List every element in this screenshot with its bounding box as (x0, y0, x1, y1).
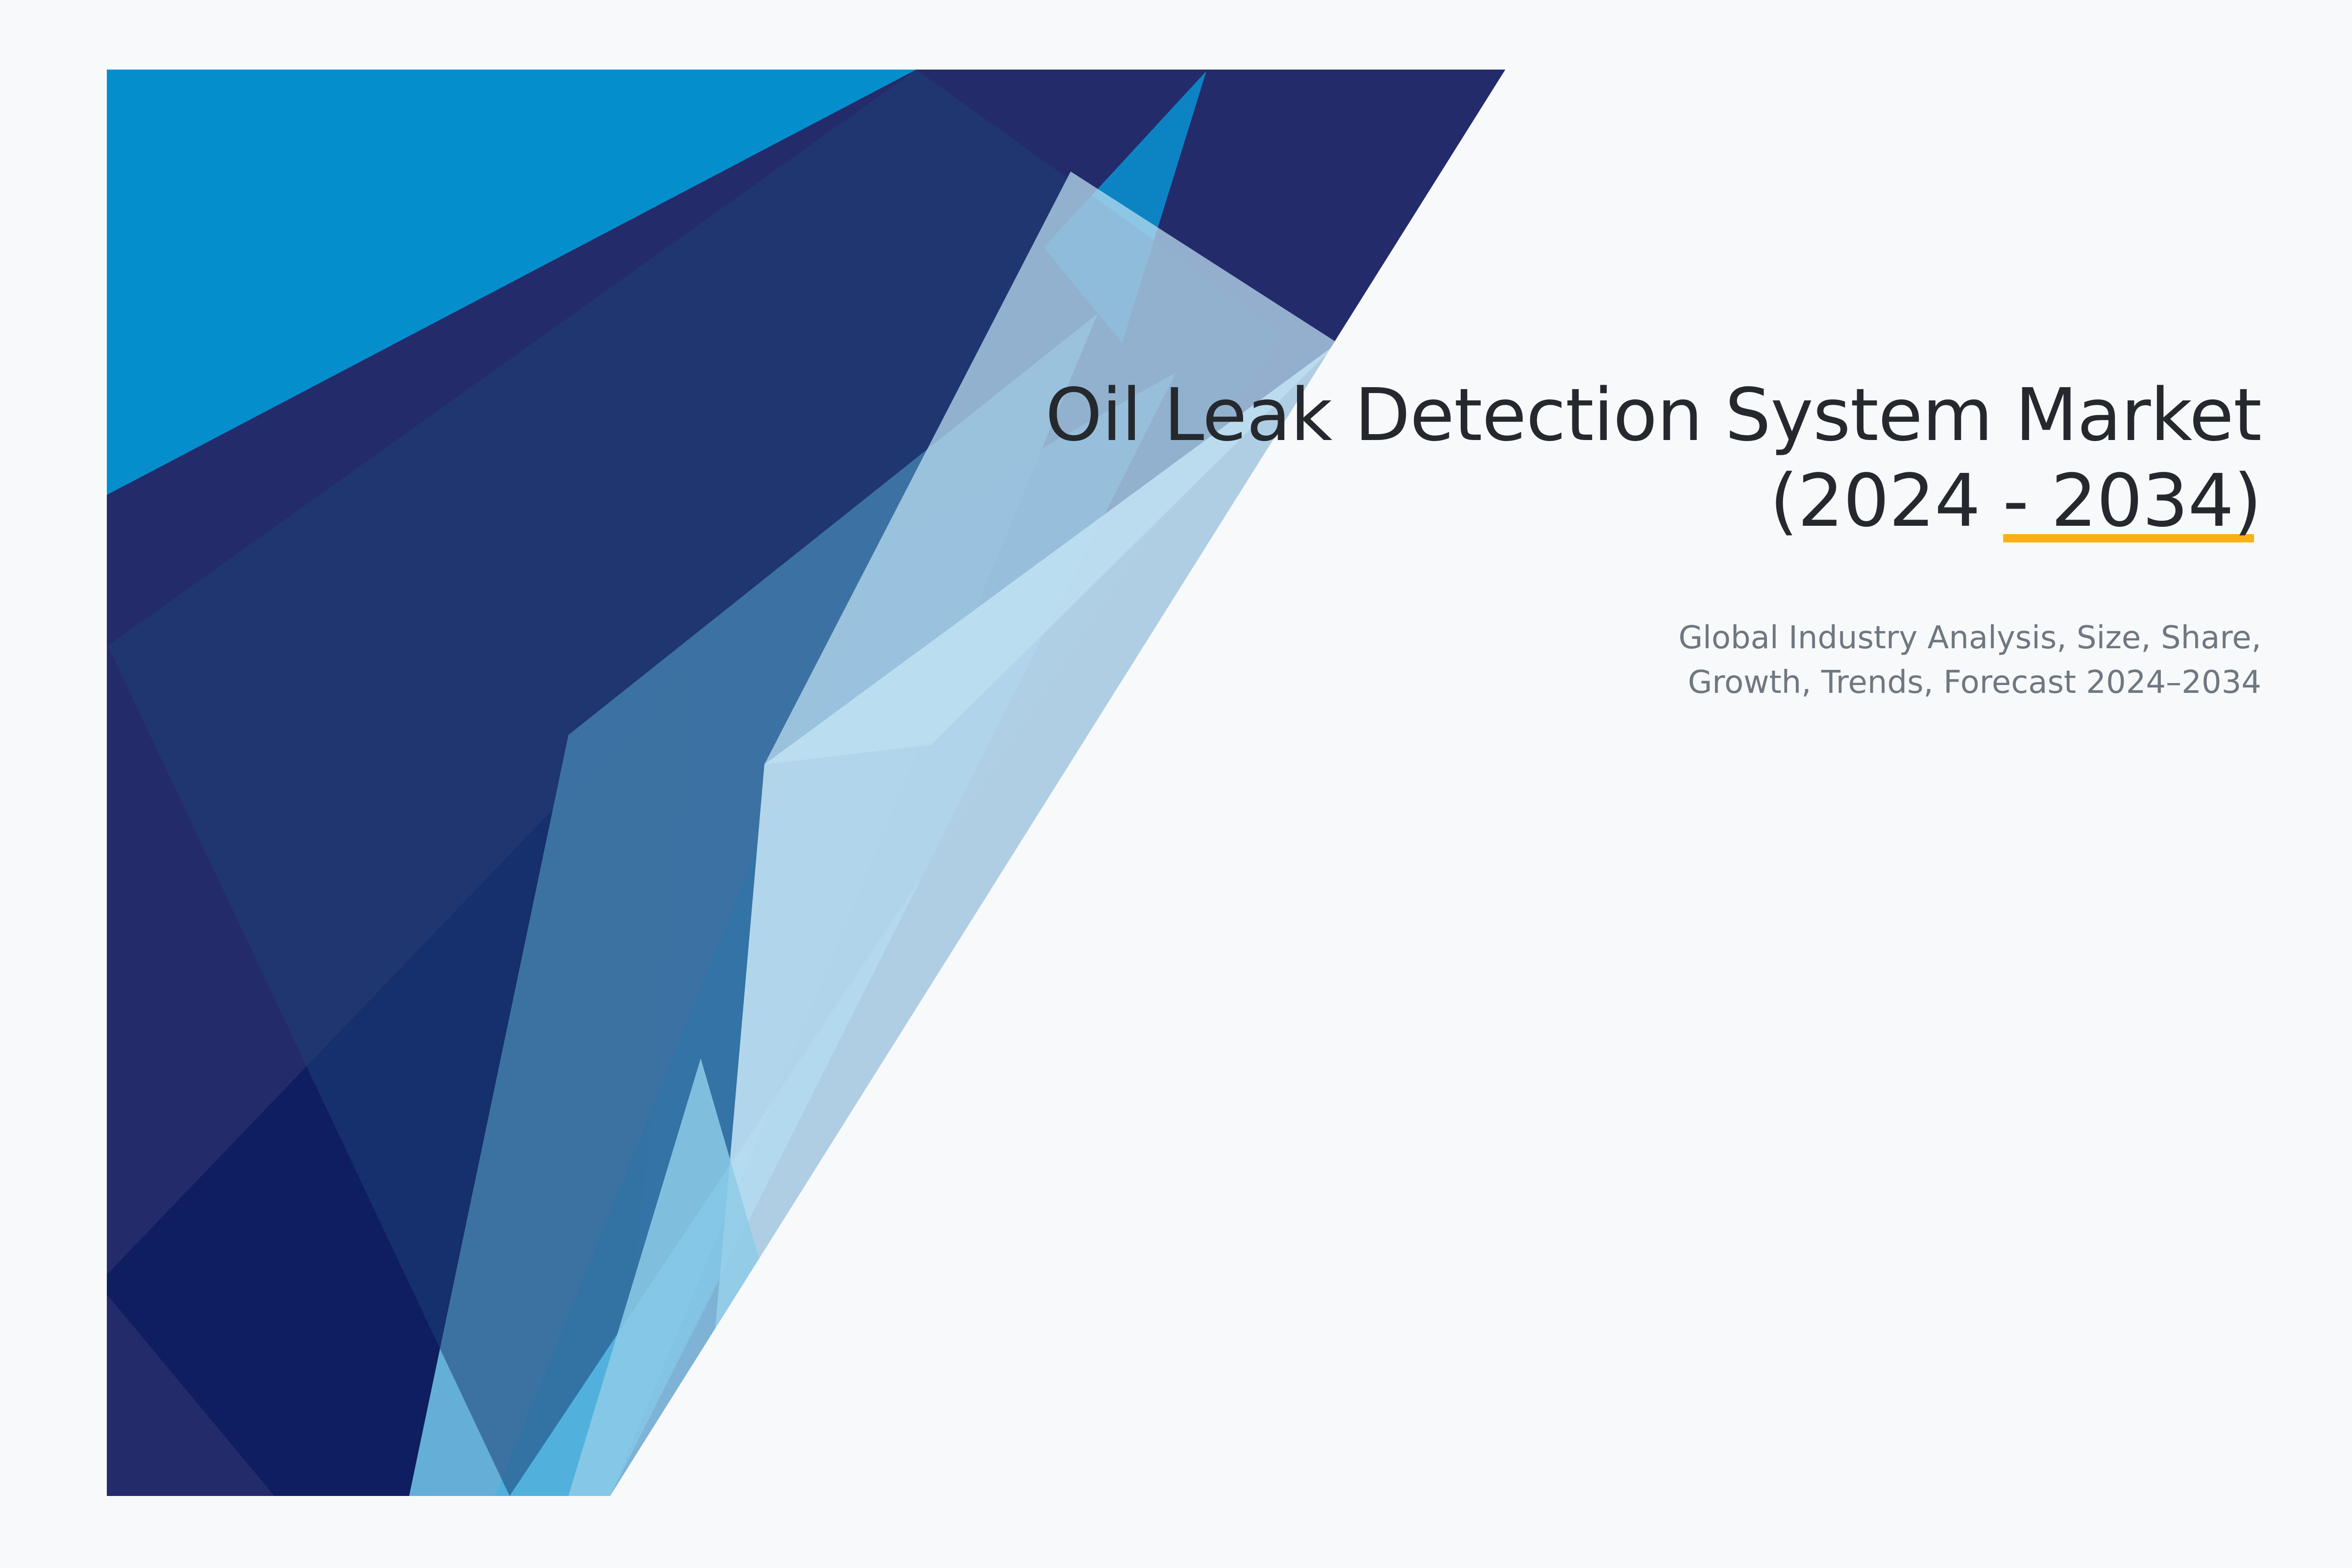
cover-text-block: Oil Leak Detection System Market (2024 -… (938, 372, 2261, 705)
abstract-geometric-artwork (0, 0, 2352, 1568)
page-subtitle: Global Industry Analysis, Size, Share, G… (938, 616, 2261, 705)
page-title: Oil Leak Detection System Market (2024 -… (938, 372, 2261, 543)
cover-page: Oil Leak Detection System Market (2024 -… (0, 0, 2352, 1568)
